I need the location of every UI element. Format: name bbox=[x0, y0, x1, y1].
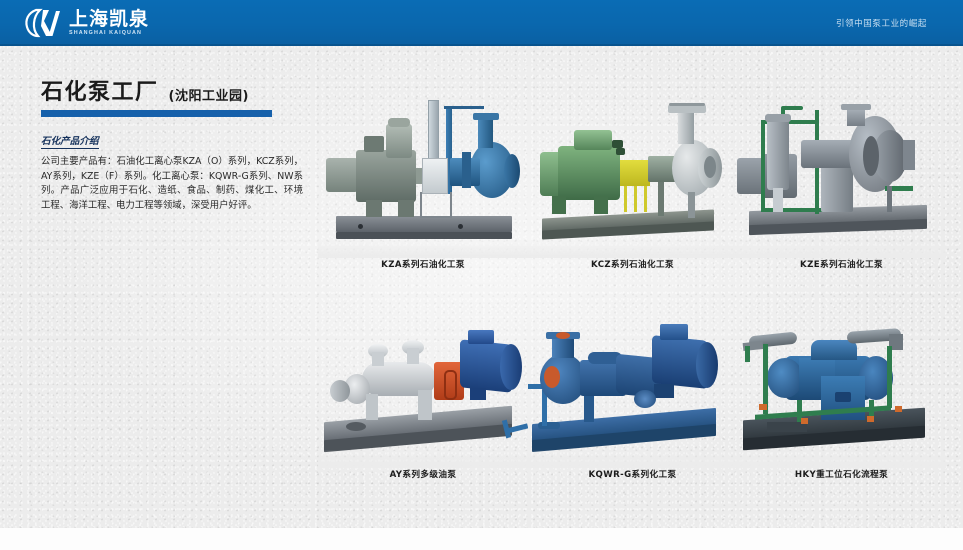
brand-name-en: SHANGHAI KAIQUAN bbox=[69, 31, 149, 36]
product-photo-hky bbox=[737, 318, 946, 468]
product-caption-kqwr: KQWR-G系列化工泵 bbox=[528, 468, 737, 480]
product-photo-kqwr bbox=[528, 318, 737, 468]
product-card-hky[interactable]: HKY重工位石化流程泵 bbox=[737, 318, 946, 480]
product-row-2: AY系列多级油泵 bbox=[318, 318, 946, 480]
footer-strip bbox=[0, 528, 963, 550]
product-row-1: KZA系列石油化工泵 bbox=[318, 96, 946, 270]
brand-name-cn: 上海凯泉 bbox=[69, 10, 149, 29]
page-title: 石化泵工厂 bbox=[41, 82, 159, 104]
brand-logo[interactable]: 上海凯泉 SHANGHAI KAIQUAN bbox=[22, 7, 149, 39]
product-card-kqwr[interactable]: KQWR-G系列化工泵 bbox=[528, 318, 737, 480]
product-photo-kcz bbox=[528, 96, 737, 258]
kaiquan-logo-icon bbox=[22, 7, 62, 39]
product-caption-ay: AY系列多级油泵 bbox=[318, 468, 528, 480]
product-card-kza[interactable]: KZA系列石油化工泵 bbox=[318, 96, 528, 270]
product-card-kcz[interactable]: KCZ系列石油化工泵 bbox=[528, 96, 737, 270]
site-header: 上海凯泉 SHANGHAI KAIQUAN 引领中国泵工业的崛起 bbox=[0, 0, 963, 46]
intro-section: 石化产品介绍 公司主要产品有：石油化工离心泵KZA（O）系列，KCZ系列，AY系… bbox=[41, 131, 303, 213]
product-photo-ay bbox=[318, 318, 528, 468]
intro-body: 公司主要产品有：石油化工离心泵KZA（O）系列，KCZ系列，AY系列，KZE（F… bbox=[41, 155, 303, 213]
product-card-ay[interactable]: AY系列多级油泵 bbox=[318, 318, 528, 480]
product-caption-kze: KZE系列石油化工泵 bbox=[737, 258, 946, 270]
page-title-block: 石化泵工厂 (沈阳工业园) bbox=[41, 82, 341, 117]
brand-text: 上海凯泉 SHANGHAI KAIQUAN bbox=[69, 10, 149, 36]
product-card-kze[interactable]: KZE系列石油化工泵 bbox=[737, 96, 946, 270]
page-root: 上海凯泉 SHANGHAI KAIQUAN 引领中国泵工业的崛起 石化泵工厂 (… bbox=[0, 0, 963, 550]
header-slogan: 引领中国泵工业的崛起 bbox=[836, 17, 927, 29]
intro-heading: 石化产品介绍 bbox=[41, 133, 99, 149]
product-caption-hky: HKY重工位石化流程泵 bbox=[737, 468, 946, 480]
product-photo-kze bbox=[737, 96, 946, 258]
title-underline-bar bbox=[41, 110, 272, 117]
product-caption-kcz: KCZ系列石油化工泵 bbox=[528, 258, 737, 270]
product-grid: KZA系列石油化工泵 bbox=[318, 96, 946, 480]
product-caption-kza: KZA系列石油化工泵 bbox=[318, 258, 528, 270]
product-photo-kza bbox=[318, 96, 528, 258]
page-subtitle: (沈阳工业园) bbox=[169, 90, 249, 104]
